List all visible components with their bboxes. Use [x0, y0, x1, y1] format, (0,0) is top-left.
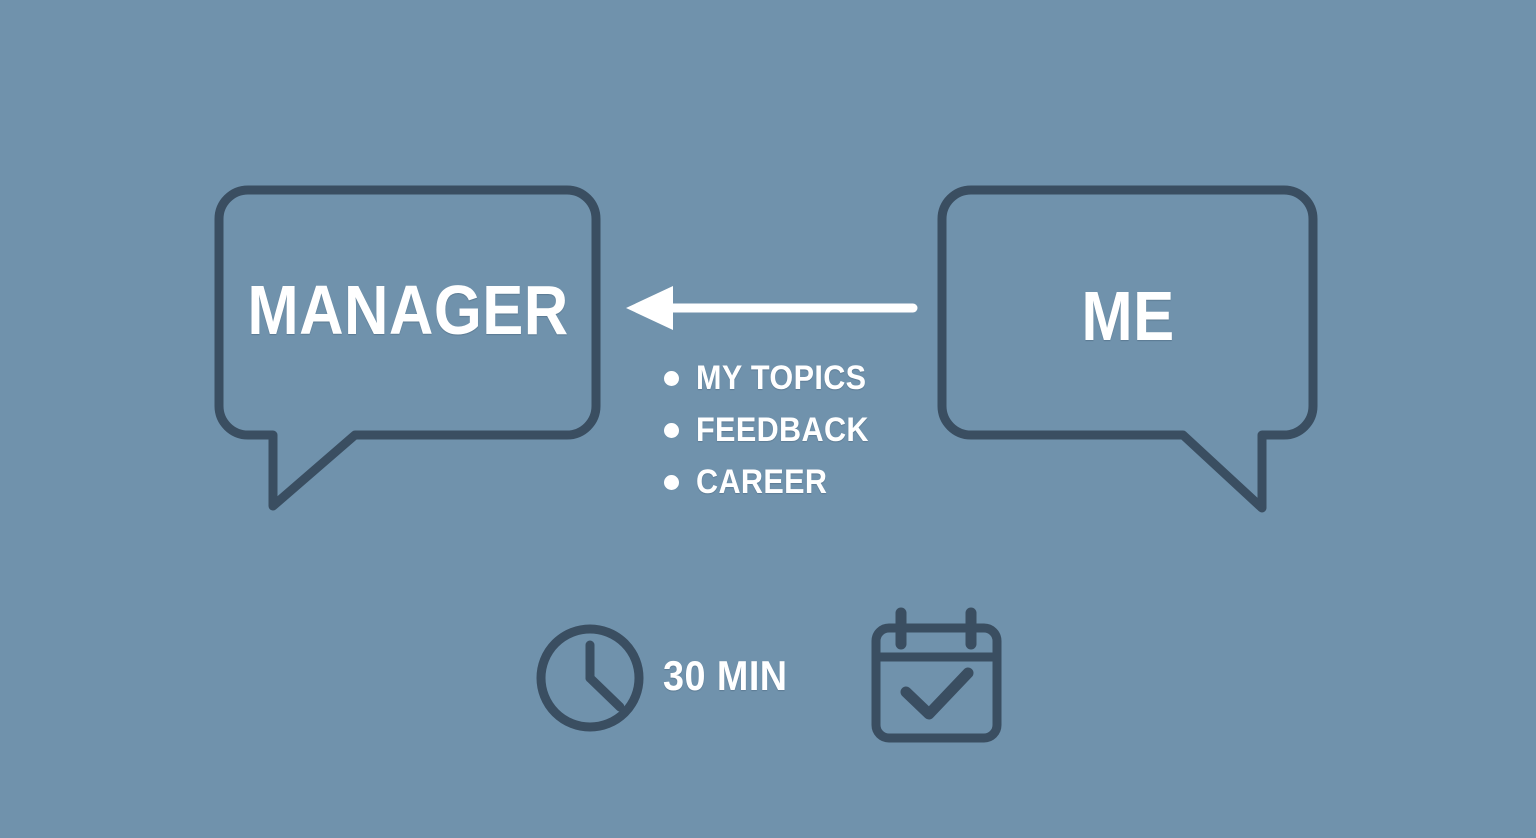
calendar-body [876, 628, 997, 738]
calendar-check-icon [876, 613, 997, 738]
bullet-dot-icon [664, 423, 679, 438]
agenda-item-label: CAREER [696, 463, 827, 502]
me-bubble-label: ME [964, 278, 1291, 354]
bullet-dot-icon [664, 371, 679, 386]
duration-value: 30 MIN [663, 652, 788, 700]
diagram-canvas: MANAGER ME MY TOPICS FEEDBACK CAREER 30 … [0, 0, 1536, 838]
agenda-list: MY TOPICS FEEDBACK CAREER [664, 352, 888, 508]
arrow-head-icon [626, 286, 673, 330]
agenda-item-label: FEEDBACK [696, 411, 869, 450]
flow-arrow [626, 286, 913, 330]
agenda-item-label: MY TOPICS [696, 359, 866, 398]
list-item: MY TOPICS [664, 352, 888, 404]
list-item: FEEDBACK [664, 404, 888, 456]
duration-label: 30 MIN [663, 652, 801, 700]
clock-icon [541, 629, 639, 727]
clock-hand-minute [590, 678, 620, 707]
bullet-dot-icon [664, 475, 679, 490]
manager-bubble-label: MANAGER [243, 272, 574, 348]
list-item: CAREER [664, 456, 888, 508]
calendar-checkmark-icon [906, 673, 968, 714]
